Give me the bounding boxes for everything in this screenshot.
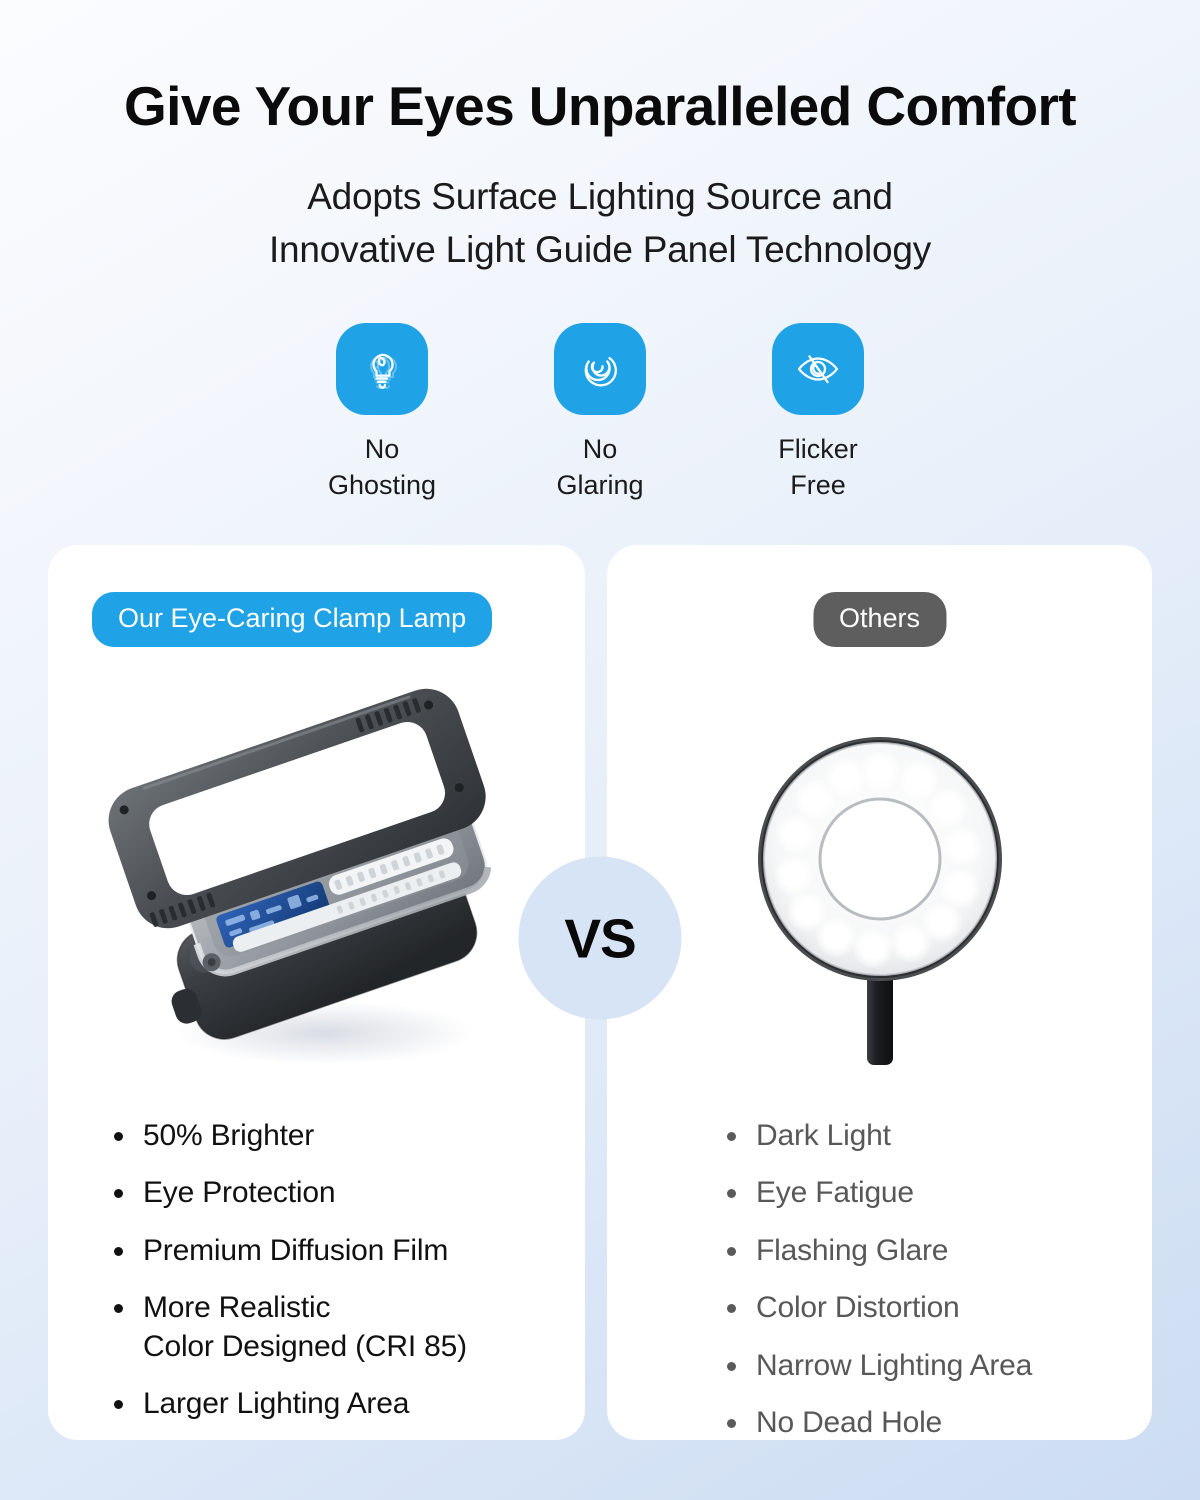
bullet-list-others: Dark Light Eye Fatigue Flashing Glare Co…: [727, 1117, 1032, 1440]
bullet-dot-icon: [114, 1132, 123, 1141]
bullet-label: Eye Fatigue: [756, 1174, 914, 1212]
subtitle-line-2: Innovative Light Guide Panel Technology: [0, 223, 1200, 277]
card-ours: Our Eye-Caring Clamp Lamp: [48, 545, 585, 1440]
clamp-lamp-image: [48, 655, 585, 1105]
vs-label: VS: [564, 906, 635, 970]
eye-off-icon: [772, 323, 864, 415]
bullet-dot-icon: [727, 1247, 736, 1256]
bullet-dot-icon: [114, 1400, 123, 1409]
feature-label: No Glaring: [556, 432, 643, 503]
page-title: Give Your Eyes Unparalleled Comfort: [0, 78, 1200, 136]
bullet-dot-icon: [727, 1132, 736, 1141]
list-item: No Dead Hole: [727, 1404, 1032, 1440]
multiple-bulbs-icon: [336, 323, 428, 415]
list-item: 50% Brighter: [114, 1117, 467, 1155]
feature-icon-row: No Ghosting No Glaring Flicker Free: [0, 323, 1200, 503]
bullet-label: 50% Brighter: [143, 1117, 314, 1155]
badge-ours: Our Eye-Caring Clamp Lamp: [92, 592, 492, 647]
bullet-dot-icon: [114, 1247, 123, 1256]
list-item: Larger Lighting Area: [114, 1385, 467, 1423]
bullet-label: Dark Light: [756, 1117, 891, 1155]
feature-label: No Ghosting: [328, 432, 436, 503]
feature-label: Flicker Free: [778, 432, 858, 503]
list-item: Eye Protection: [114, 1174, 467, 1212]
list-item: More Realistic Color Designed (CRI 85): [114, 1289, 467, 1366]
bullet-dot-icon: [727, 1189, 736, 1198]
list-item: Color Distortion: [727, 1289, 1032, 1327]
bullet-label: More Realistic Color Designed (CRI 85): [143, 1289, 467, 1366]
bullet-list-ours: 50% Brighter Eye Protection Premium Diff…: [114, 1117, 467, 1440]
bullet-label: Premium Diffusion Film: [143, 1232, 448, 1270]
bullet-label: Larger Lighting Area: [143, 1385, 409, 1423]
bullet-dot-icon: [727, 1362, 736, 1371]
bullet-dot-icon: [727, 1419, 736, 1428]
page-subtitle: Adopts Surface Lighting Source and Innov…: [0, 170, 1200, 277]
card-others: Others: [607, 545, 1152, 1440]
ring-light-image: [607, 655, 1152, 1105]
feature-no-glaring: No Glaring: [530, 323, 670, 503]
feature-flicker-free: Flicker Free: [748, 323, 888, 503]
bullet-label: No Dead Hole: [756, 1404, 942, 1440]
list-item: Dark Light: [727, 1117, 1032, 1155]
list-item: Narrow Lighting Area: [727, 1347, 1032, 1385]
feature-no-ghosting: No Ghosting: [312, 323, 452, 503]
bullet-label: Narrow Lighting Area: [756, 1347, 1032, 1385]
header: Give Your Eyes Unparalleled Comfort Adop…: [0, 0, 1200, 277]
badge-others: Others: [813, 592, 946, 647]
bullet-label: Eye Protection: [143, 1174, 335, 1212]
list-item: Eye Fatigue: [727, 1174, 1032, 1212]
list-item: Premium Diffusion Film: [114, 1232, 467, 1270]
bullet-dot-icon: [114, 1304, 123, 1313]
list-item: Flashing Glare: [727, 1232, 1032, 1270]
subtitle-line-1: Adopts Surface Lighting Source and: [0, 170, 1200, 224]
bullet-label: Color Distortion: [756, 1289, 960, 1327]
bullet-dot-icon: [114, 1189, 123, 1198]
spiral-glare-icon: [554, 323, 646, 415]
vs-badge: VS: [519, 857, 682, 1020]
bullet-dot-icon: [727, 1304, 736, 1313]
bullet-label: Flashing Glare: [756, 1232, 948, 1270]
